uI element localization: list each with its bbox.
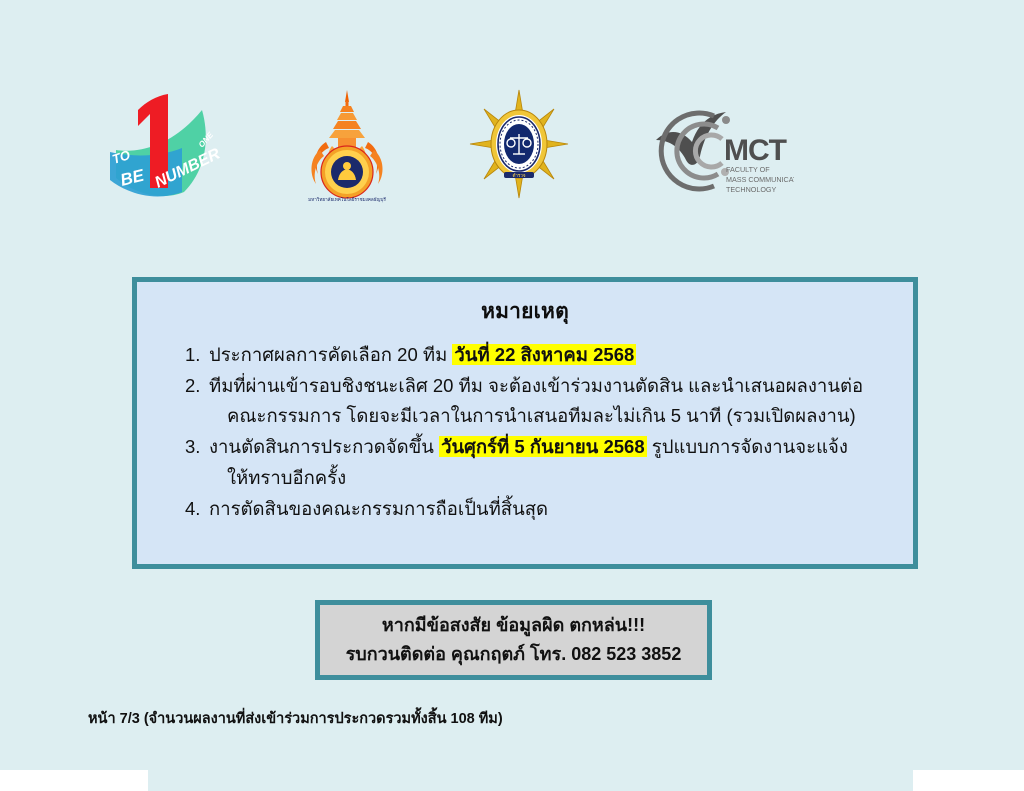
note-item-text-pre: งานตัดสินการประกวดจัดขึ้น [209,436,439,457]
note-list: 1. ประกาศผลการคัดเลือก 20 ทีม วันที่ 22 … [137,340,913,524]
note-item-number: 2. [185,371,200,401]
note-item-highlight: วันศุกร์ที่ 5 กันยายน 2568 [439,436,647,457]
royal-thai-police-emblem: ตำรวจ [468,88,570,200]
svg-text:TECHNOLOGY: TECHNOLOGY [726,185,777,194]
note-list-item: 4. การตัดสินของคณะกรรมการถือเป็นที่สิ้นส… [137,494,913,524]
note-list-item: 2. ทีมที่ผ่านเข้ารอบชิงชนะเลิศ 20 ทีม จะ… [137,371,913,431]
svg-text:MCT: MCT [724,134,787,167]
page-background-footer-band [148,770,913,791]
note-item-text-pre: ประกาศผลการคัดเลือก 20 ทีม [209,344,452,365]
logo-strip: TO BE NUMBER ONE [0,88,1024,208]
rmutt-emblem: มหาวิทยาลัยเทคโนโลยีราชมงคลธัญบุรี [302,88,392,206]
note-item-text-cont: ให้ทราบอีกครั้ง [209,463,897,493]
svg-text:MASS COMMUNICATION: MASS COMMUNICATION [726,175,794,184]
note-list-item: 3. งานตัดสินการประกวดจัดขึ้น วันศุกร์ที่… [137,432,913,492]
note-item-number: 1. [185,340,200,370]
svg-text:มหาวิทยาลัยเทคโนโลยีราชมงคลธัญ: มหาวิทยาลัยเทคโนโลยีราชมงคลธัญบุรี [308,196,386,203]
note-item-highlight: วันที่ 22 สิงหาคม 2568 [452,344,636,365]
note-item-number: 3. [185,432,200,462]
contact-line-2: รบกวนติดต่อ คุณกฤตภ์ โทร. 082 523 3852 [346,640,682,669]
note-title: หมายเหตุ [137,295,913,328]
note-list-item: 1. ประกาศผลการคัดเลือก 20 ทีม วันที่ 22 … [137,340,913,370]
svg-text:ตำรวจ: ตำรวจ [512,172,525,178]
mct-faculty-logo: MCT FACULTY OF MASS COMMUNICATION TECHNO… [652,106,794,196]
note-item-number: 4. [185,494,200,524]
slide-canvas: TO BE NUMBER ONE [0,0,1024,791]
contact-line-1: หากมีข้อสงสัย ข้อมูลผิด ตกหล่น!!! [382,611,645,640]
contact-box: หากมีข้อสงสัย ข้อมูลผิด ตกหล่น!!! รบกวนต… [315,600,712,680]
note-item-text-post: รูปแบบการจัดงานจะแจ้ง [647,436,848,457]
footer-page-note: หน้า 7/3 (จำนวนผลงานที่ส่งเข้าร่วมการประ… [88,707,503,730]
to-be-number-one-logo: TO BE NUMBER ONE [98,88,226,206]
svg-text:FACULTY OF: FACULTY OF [726,165,770,174]
note-item-text-pre: ทีมที่ผ่านเข้ารอบชิงชนะเลิศ 20 ทีม จะต้อ… [209,375,863,396]
note-item-text-pre: การตัดสินของคณะกรรมการถือเป็นที่สิ้นสุด [209,498,548,519]
note-box: หมายเหตุ 1. ประกาศผลการคัดเลือก 20 ทีม ว… [132,277,918,569]
note-item-text-cont: คณะกรรมการ โดยจะมีเวลาในการนำเสนอทีมละไม… [209,401,897,431]
